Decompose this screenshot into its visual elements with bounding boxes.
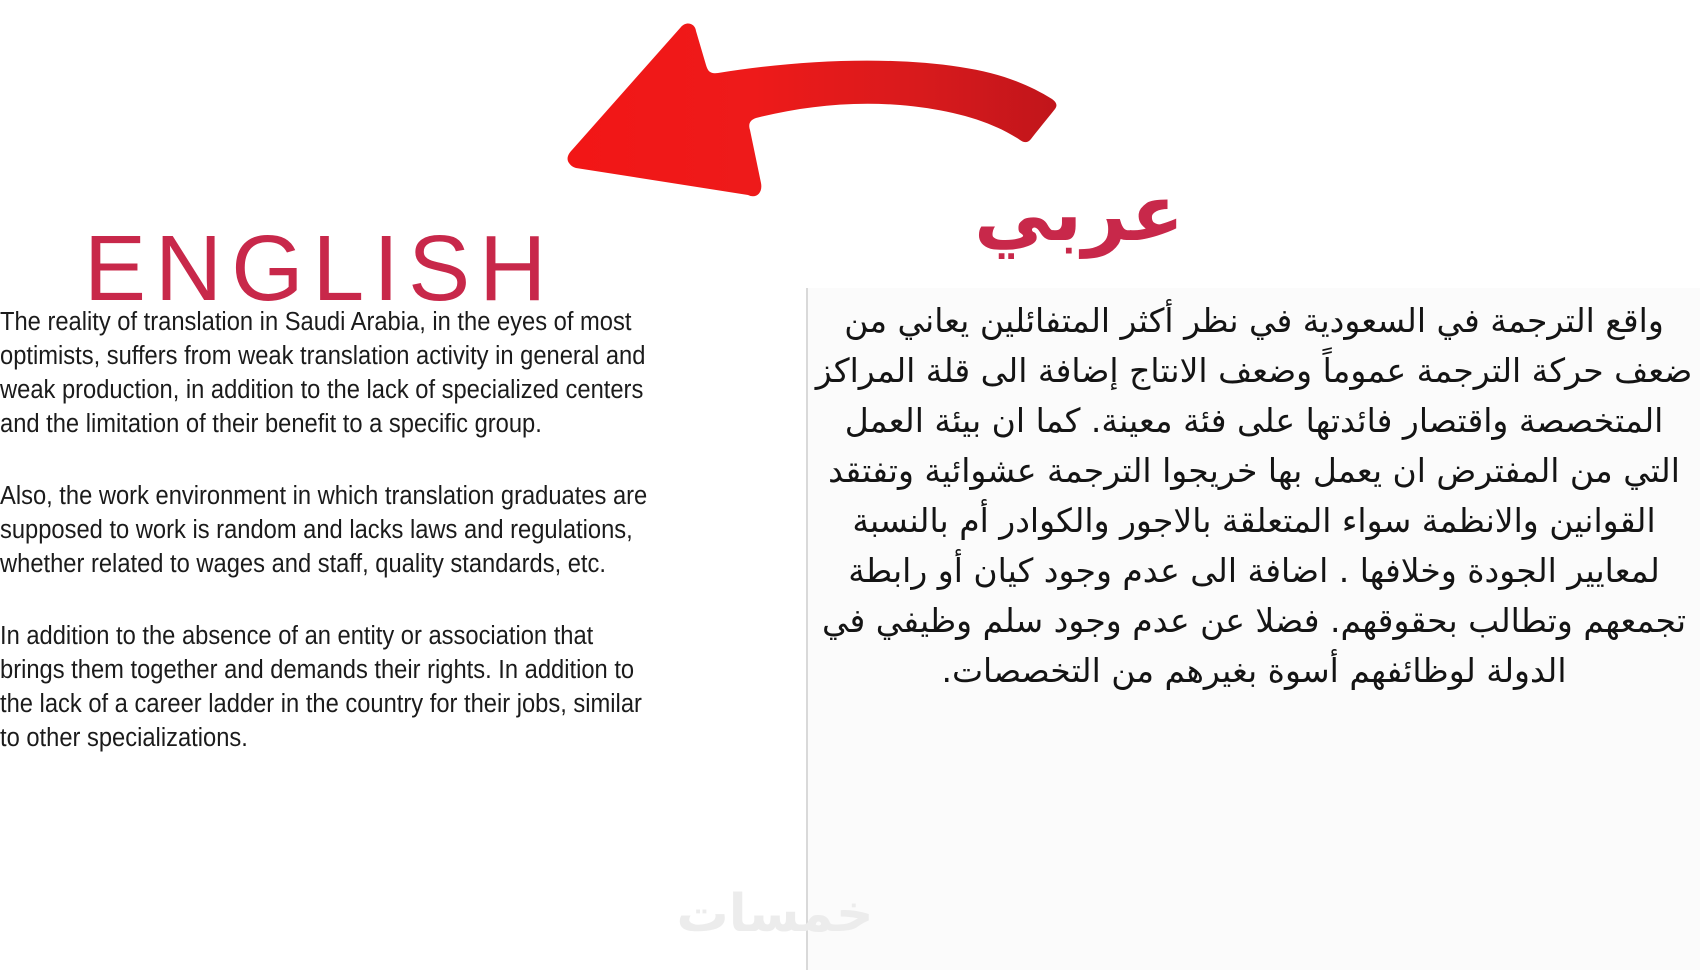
english-body-text: The reality of translation in Saudi Arab… — [0, 305, 651, 755]
page-title-english: ENGLISH — [84, 220, 555, 318]
page-title-arabic: عربي — [974, 170, 1184, 260]
slide-canvas: ENGLISH عربي The reality of translation … — [0, 0, 1700, 970]
english-paragraph-1: The reality of translation in Saudi Arab… — [0, 305, 651, 441]
watermark: خمسات — [650, 884, 900, 944]
english-paragraph-2: Also, the work environment in which tran… — [0, 479, 651, 581]
arabic-paragraph-1: واقع الترجمة في السعودية في نظر أكثر الم… — [812, 296, 1696, 696]
arabic-body-text: واقع الترجمة في السعودية في نظر أكثر الم… — [812, 296, 1696, 696]
english-paragraph-3: In addition to the absence of an entity … — [0, 619, 651, 755]
arabic-panel-divider — [806, 288, 808, 970]
